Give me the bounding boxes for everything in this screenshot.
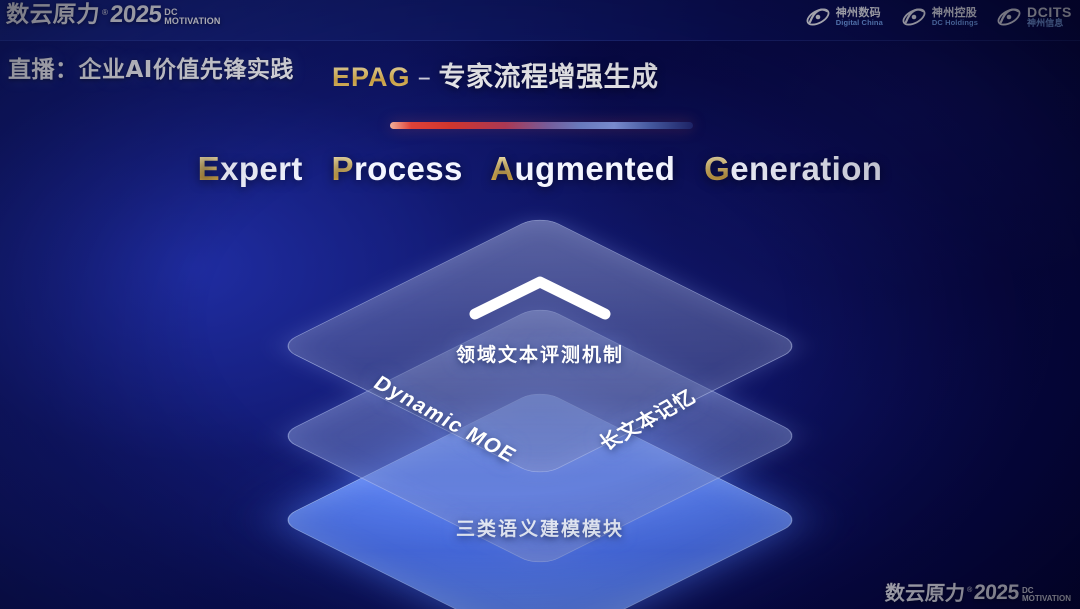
subtitle-rest-augmented: ugmented: [515, 150, 676, 187]
swirl-icon: [805, 5, 831, 29]
brand-logo-motivation: MOTIVATION: [164, 17, 220, 26]
footer-logo-motivation: MOTIVATION: [1022, 595, 1071, 603]
footer-logo-cn: 数云原力: [885, 583, 966, 603]
brand-logo-dcm: DC MOTIVATION: [164, 8, 220, 26]
footer-watermark-logo: 数云原力 ® 2025 DC MOTIVATION: [885, 582, 1071, 603]
page-title-acronym: EPAG: [332, 62, 411, 92]
gradient-divider: [390, 122, 693, 129]
subtitle-cap-e: E: [198, 150, 220, 187]
corp-logo-dcits: DCITS 神州信息: [996, 5, 1072, 29]
live-broadcast-title: 直播：企业AI价值先锋实践: [8, 50, 294, 84]
corp-logo-text: 神州控股 DC Holdings: [932, 7, 978, 26]
swirl-icon: [901, 5, 927, 29]
subtitle-rest-expert: xpert: [220, 150, 303, 187]
subtitle-space-3: [685, 150, 695, 187]
brand-logo: 数云原力 ® 2025 DC MOTIVATION: [6, 3, 220, 27]
page-title-dash: –: [418, 62, 432, 93]
corp-logo-dc-holdings: 神州控股 DC Holdings: [901, 5, 978, 29]
layered-architecture-diagram: 领域文本评测机制 Dynamic MOE 长文本记忆 三类语义建模模块: [262, 222, 818, 562]
page-title-cn: 专家流程增强生成: [439, 62, 659, 93]
corp-logo-text: 神州数码 Digital China: [836, 7, 883, 26]
corp-logo-en: Digital China: [836, 19, 883, 27]
page-title: EPAG–专家流程增强生成: [332, 55, 659, 94]
corp-logo-en: 神州信息: [1027, 20, 1072, 29]
corp-logo-digital-china: 神州数码 Digital China: [805, 5, 883, 29]
subtitle-word-process: Process: [332, 150, 463, 187]
corp-logo-en: DC Holdings: [932, 19, 978, 27]
corp-logo-text: DCITS 神州信息: [1027, 5, 1072, 29]
subtitle-rest-process: rocess: [354, 150, 463, 187]
brand-logo-registered: ®: [102, 9, 108, 17]
swirl-icon: [996, 5, 1022, 29]
footer-logo-year: 2025: [974, 582, 1020, 603]
subtitle-cap-g: G: [704, 150, 730, 187]
footer-logo-dcm: DC MOTIVATION: [1022, 587, 1071, 603]
page-subtitle: Expert Process Augmented Generation: [0, 150, 1080, 188]
corporate-logo-group: 神州数码 Digital China 神州控股 DC Holdings: [805, 5, 1072, 29]
subtitle-word-augmented: Augmented: [490, 150, 675, 187]
subtitle-word-expert: Expert: [198, 150, 303, 187]
subtitle-space-1: [312, 150, 322, 187]
subtitle-word-generation: Generation: [704, 150, 882, 187]
slide-canvas: 数云原力 ® 2025 DC MOTIVATION 神州数码 Digital C…: [0, 0, 1080, 609]
subtitle-rest-generation: eneration: [730, 150, 882, 187]
chevron-up-icon: [465, 270, 615, 324]
brand-logo-cn: 数云原力: [5, 4, 100, 27]
footer-logo-registered: ®: [967, 587, 972, 594]
corp-logo-cn: DCITS: [1027, 5, 1072, 20]
subtitle-cap-p: P: [332, 150, 354, 187]
subtitle-cap-a: A: [490, 150, 514, 187]
subtitle-space-2: [472, 150, 482, 187]
brand-logo-year: 2025: [109, 3, 162, 27]
